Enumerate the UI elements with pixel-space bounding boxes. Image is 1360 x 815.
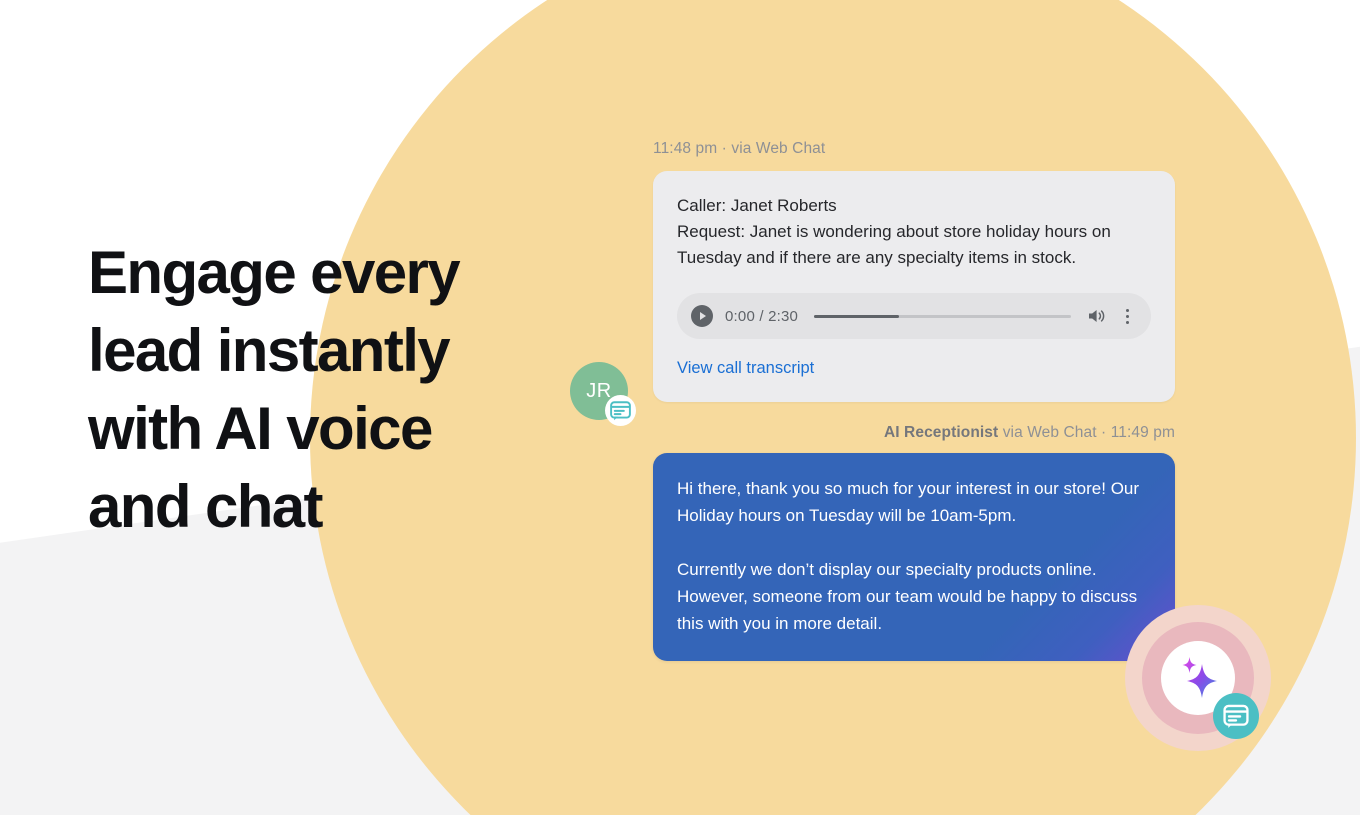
- hero-banner: Engage every lead instantly with AI voic…: [0, 0, 1360, 815]
- outgoing-message-bubble: Hi there, thank you so much for your int…: [653, 453, 1175, 661]
- outgoing-sender-name: AI Receptionist: [884, 424, 998, 441]
- web-chat-icon: [1213, 693, 1259, 739]
- audio-time-display: 0:00 / 2:30: [725, 308, 798, 325]
- play-icon[interactable]: [691, 305, 713, 327]
- ai-assistant-avatar: [1125, 605, 1271, 751]
- avatar-initials: JR: [586, 380, 611, 403]
- outgoing-meta-rest: via Web Chat · 11:49 pm: [998, 424, 1175, 441]
- audio-progress-slider[interactable]: [814, 315, 1071, 318]
- incoming-message-meta: 11:48 pm · via Web Chat: [653, 140, 1175, 158]
- incoming-message-text: Caller: Janet Roberts Request: Janet is …: [677, 193, 1151, 271]
- incoming-message-bubble: Caller: Janet Roberts Request: Janet is …: [653, 171, 1175, 402]
- ai-sparkle-icon: [1171, 651, 1225, 705]
- thread-spacer: [653, 402, 1175, 424]
- avatar: JR: [570, 362, 628, 420]
- kebab-menu-icon[interactable]: [1119, 306, 1135, 326]
- audio-progress-fill: [814, 315, 899, 318]
- web-chat-icon: [605, 395, 636, 426]
- view-call-transcript-link[interactable]: View call transcript: [677, 359, 814, 378]
- outgoing-message-text: Hi there, thank you so much for your int…: [677, 475, 1149, 637]
- outgoing-message-meta: AI Receptionist via Web Chat · 11:49 pm: [653, 424, 1175, 442]
- volume-icon[interactable]: [1087, 307, 1107, 325]
- page-title: Engage every lead instantly with AI voic…: [88, 234, 518, 546]
- conversation-thread: 11:48 pm · via Web Chat Caller: Janet Ro…: [653, 140, 1175, 661]
- audio-player[interactable]: 0:00 / 2:30: [677, 293, 1151, 339]
